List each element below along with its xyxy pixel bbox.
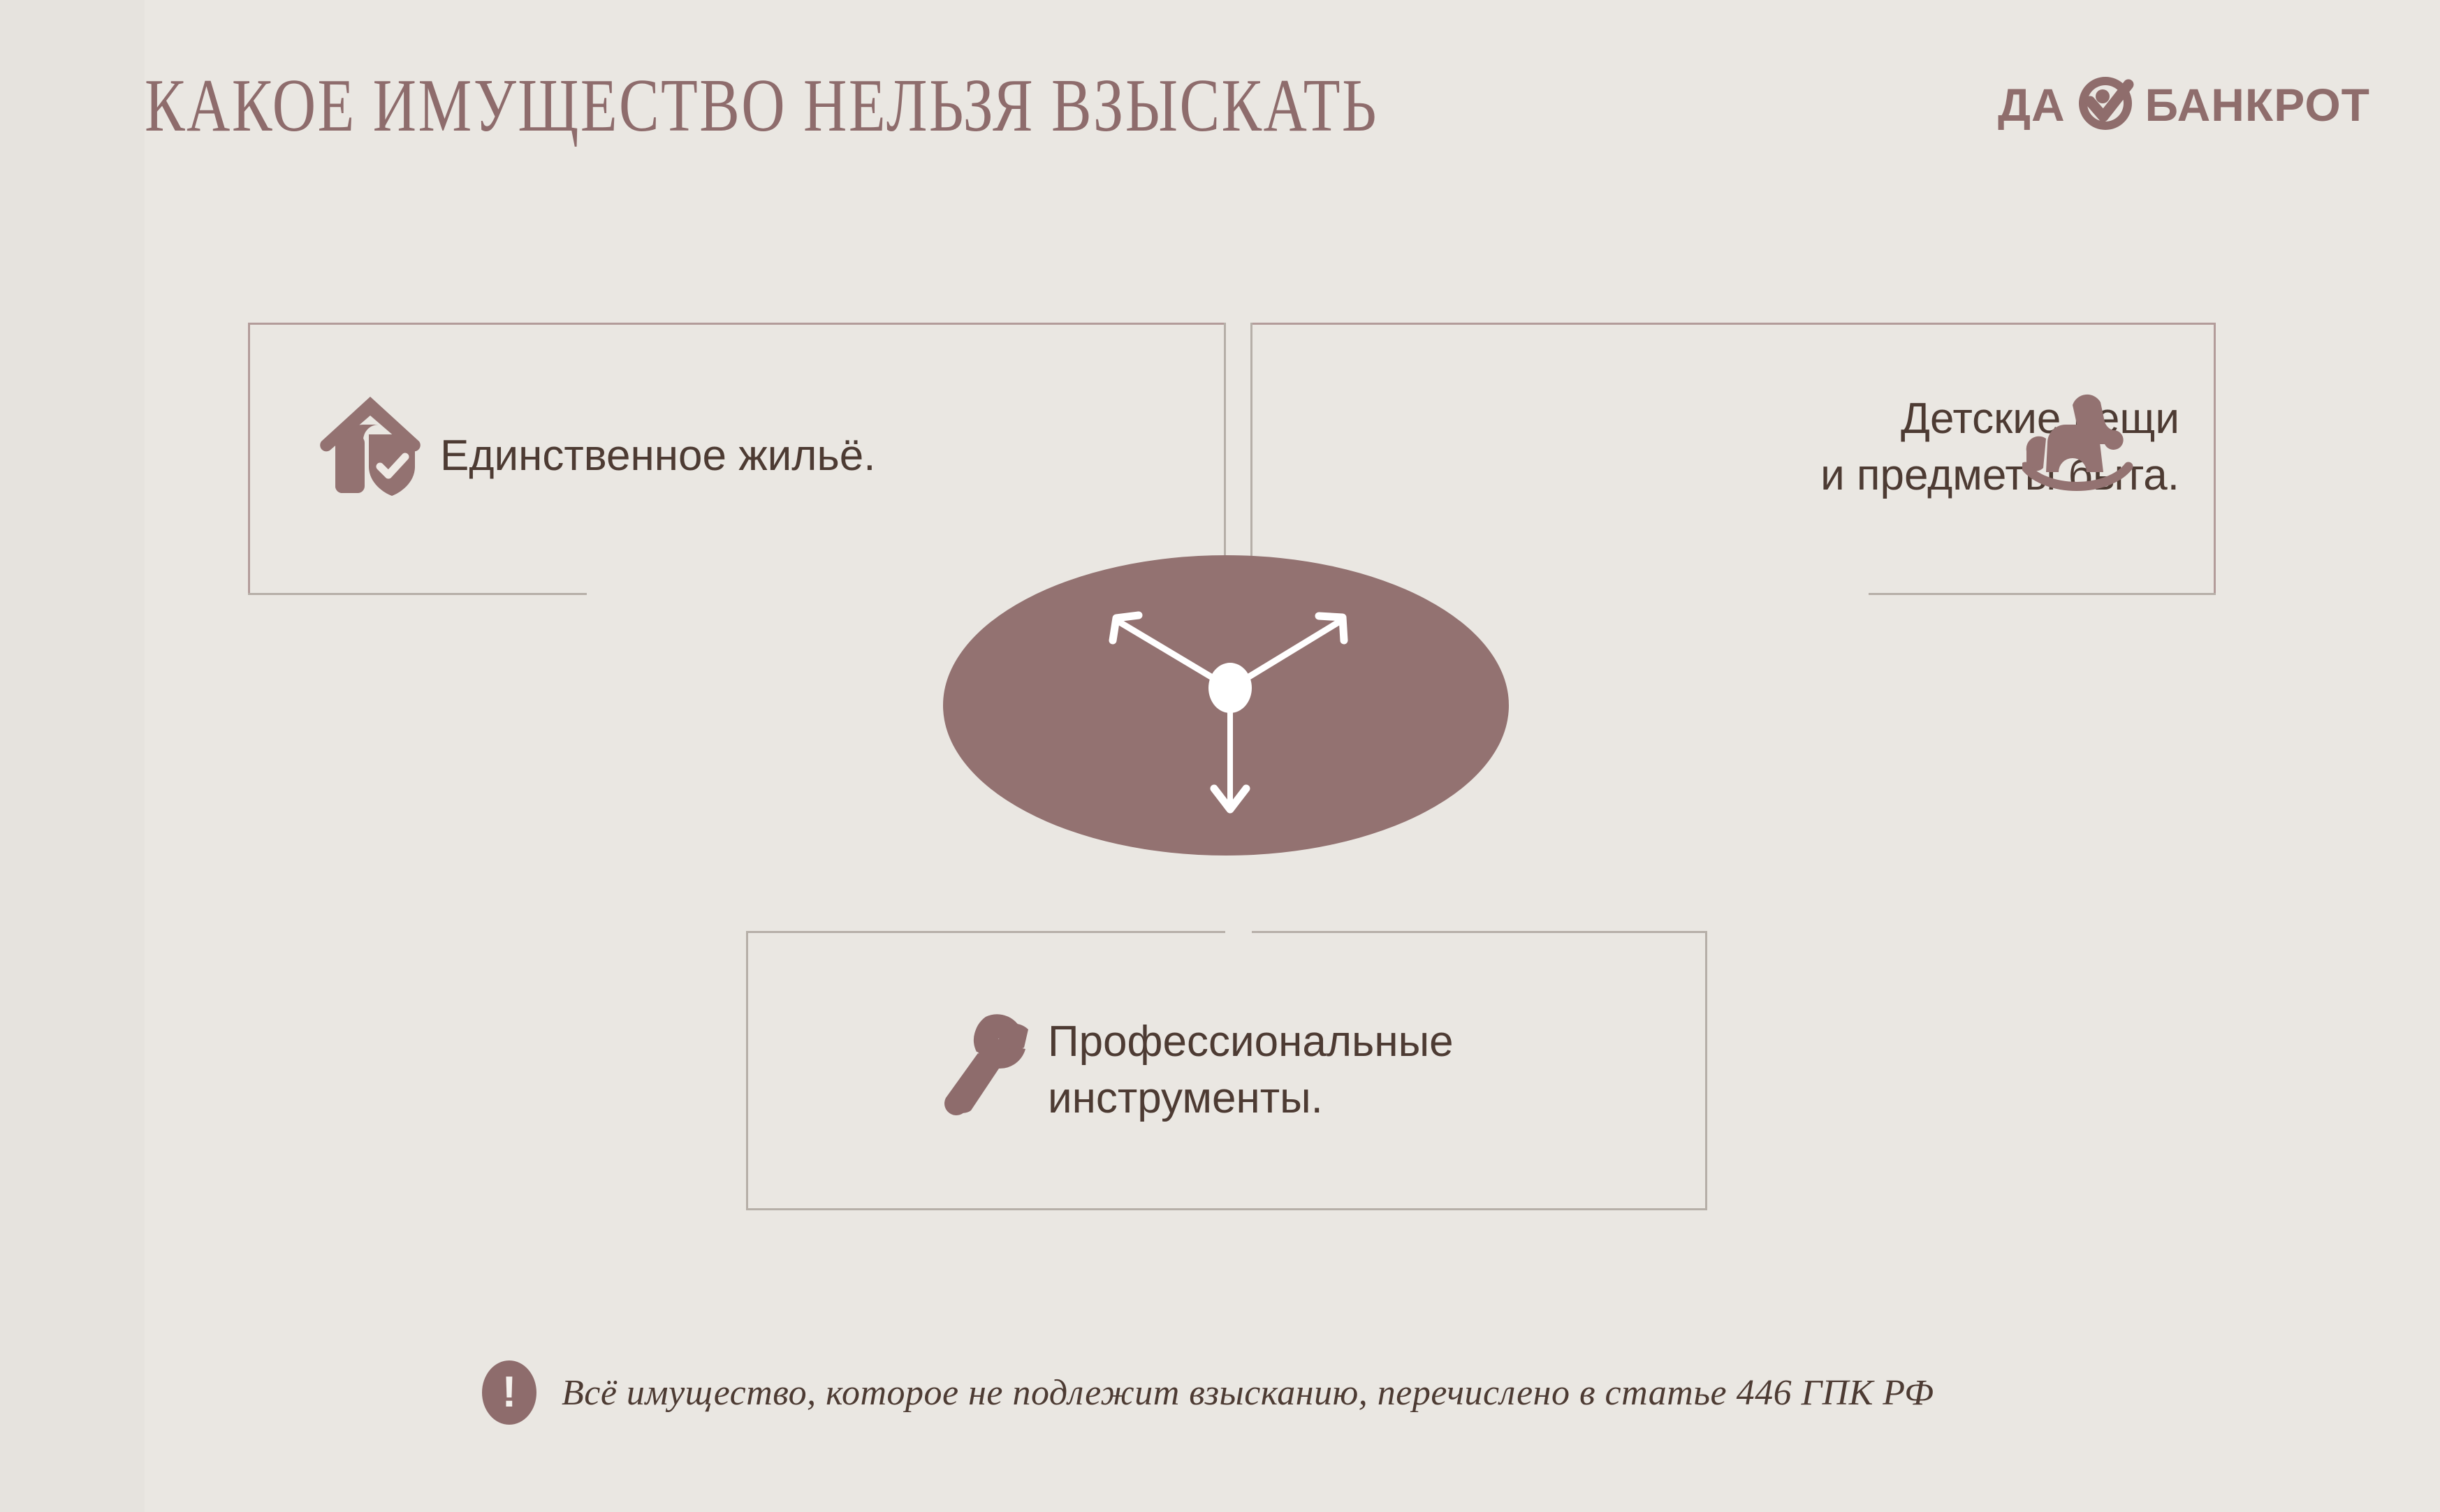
exclamation-icon: ! [482, 1360, 536, 1425]
house-shield-check-icon [314, 391, 426, 496]
card-tools-text: Профессиональные инструменты. [1048, 1014, 1676, 1126]
card-housing-border-top [248, 323, 1226, 325]
three-way-arrows-icon [943, 555, 1509, 856]
card-children-border-right [2214, 323, 2216, 595]
slide-canvas: КАКОЕ ИМУЩЕСТВО НЕЛЬЗЯ ВЗЫСКАТЬ ДА БАНКР… [0, 0, 2440, 1512]
card-children-border-top [1250, 323, 2216, 325]
brand-logo[interactable]: ДА БАНКРОТ [1998, 75, 2370, 134]
logo-word-da: ДА [1998, 82, 2066, 128]
card-housing-border-left [248, 323, 250, 595]
footer-note-text: Всё имущество, которое не подлежит взыск… [562, 1372, 1934, 1414]
page-title: КАКОЕ ИМУЩЕСТВО НЕЛЬЗЯ ВЗЫСКАТЬ [145, 68, 1378, 144]
card-housing-text: Единственное жильё. [440, 428, 1174, 485]
card-children-border-bottom [1869, 593, 2216, 595]
center-hub [943, 555, 1509, 856]
rocking-horse-icon [2022, 390, 2134, 493]
circle-check-icon [2075, 73, 2135, 137]
wrench-icon [936, 1006, 1034, 1117]
logo-word-bankrot: БАНКРОТ [2145, 82, 2370, 128]
background-left-strip [0, 0, 145, 1512]
card-tools-border-right [1705, 931, 1707, 1210]
card-housing-border-bottom [248, 593, 587, 595]
card-tools-border-bottom [746, 1208, 1707, 1210]
footer-note: ! Всё имущество, которое не подлежит взы… [482, 1360, 1934, 1425]
card-tools-border-left [746, 931, 748, 1210]
card-tools-border-top-left [746, 931, 1225, 933]
card-tools-border-top-right [1252, 931, 1707, 933]
